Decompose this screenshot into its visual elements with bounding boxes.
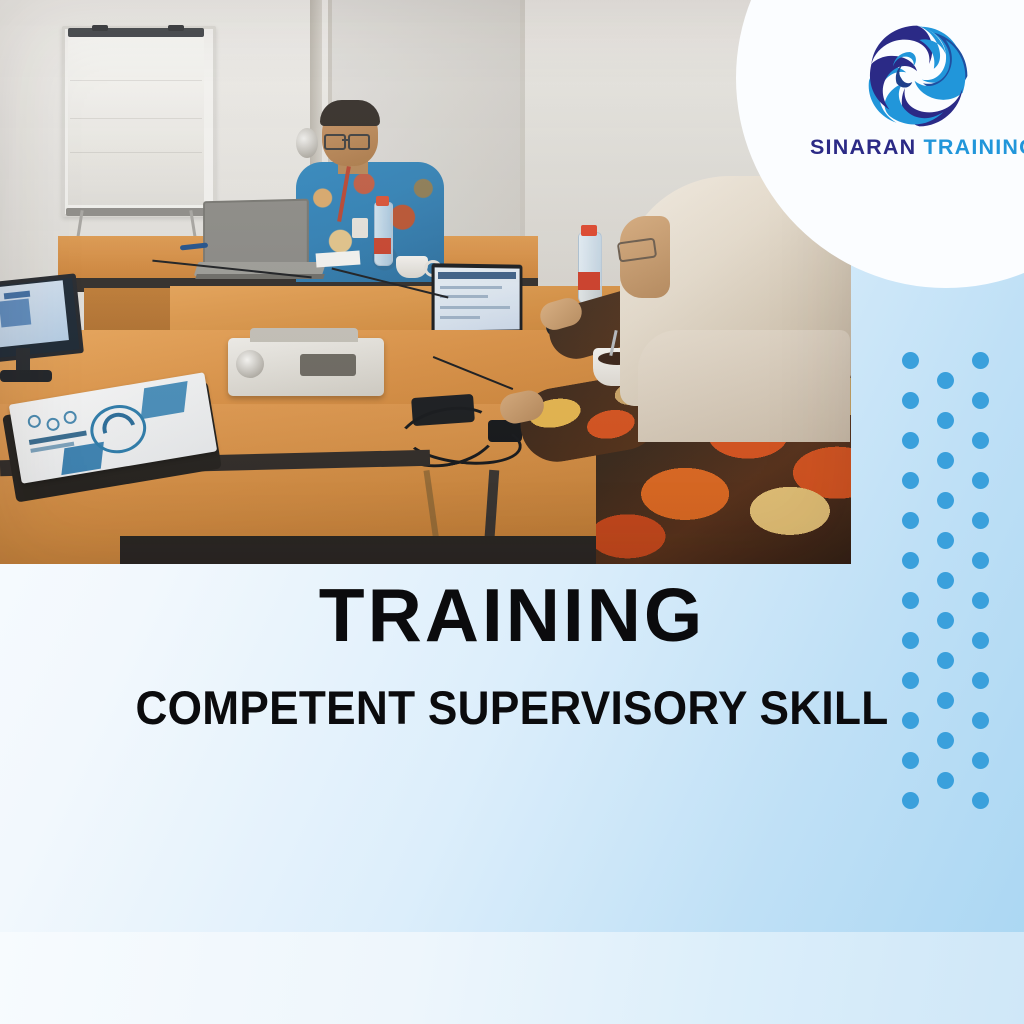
- decorative-dot: [972, 352, 989, 369]
- decorative-dot: [902, 552, 919, 569]
- decorative-dot: [972, 752, 989, 769]
- decorative-dot: [972, 432, 989, 449]
- decorative-dot: [937, 652, 954, 669]
- training-poster: SINARAN TRAINING TRAINING COMPETENT SUPE…: [0, 0, 1024, 1024]
- brand-name-primary: SINARAN: [810, 135, 916, 159]
- footer-bar: sinaran-training.com SINARAN TRAINING: [0, 932, 1024, 1024]
- decorative-dot: [902, 432, 919, 449]
- brand-name-secondary: TRAINING: [924, 135, 1024, 159]
- decorative-dot: [902, 752, 919, 769]
- decorative-dot: [937, 772, 954, 789]
- decorative-dot: [902, 352, 919, 369]
- decorative-dot: [902, 792, 919, 809]
- decorative-dot: [972, 512, 989, 529]
- decorative-dot: [937, 732, 954, 749]
- decorative-dot: [937, 372, 954, 389]
- sinaran-swirl-logo-icon: [857, 16, 977, 136]
- brand-logo: SINARAN TRAINING: [810, 16, 1024, 166]
- page-subtitle: COMPETENT SUPERVISORY SKILL: [31, 684, 994, 731]
- decorative-dot: [937, 492, 954, 509]
- photo-vignette: [0, 0, 851, 564]
- page-title: TRAINING: [0, 578, 1024, 653]
- brand-logo-text: SINARAN TRAINING: [810, 135, 1024, 160]
- decorative-dot: [902, 512, 919, 529]
- decorative-dot: [937, 452, 954, 469]
- decorative-dot: [902, 392, 919, 409]
- decorative-dot: [972, 392, 989, 409]
- training-photo: [0, 0, 851, 564]
- decorative-dot: [972, 792, 989, 809]
- decorative-dot: [972, 552, 989, 569]
- decorative-dot: [937, 532, 954, 549]
- decorative-dot: [902, 472, 919, 489]
- decorative-dot: [972, 472, 989, 489]
- decorative-dot: [937, 412, 954, 429]
